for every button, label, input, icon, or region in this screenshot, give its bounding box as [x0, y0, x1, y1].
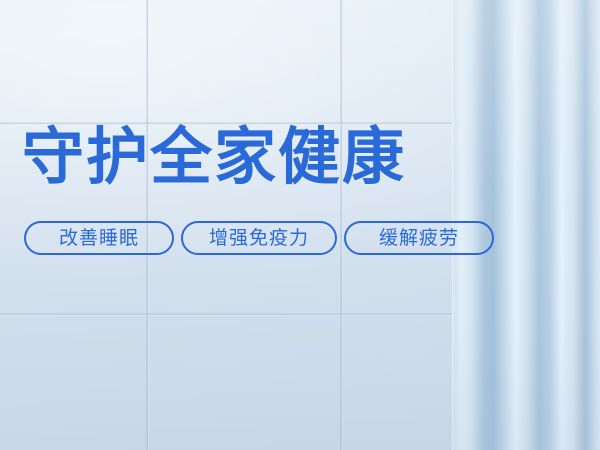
benefit-tag-boost-immunity[interactable]: 增强免疫力: [181, 221, 337, 255]
page-title: 守护全家健康: [22, 122, 406, 192]
benefit-tag-row: 改善睡眠 增强免疫力 缓解疲劳: [24, 221, 494, 255]
benefit-tag-relieve-fatigue[interactable]: 缓解疲劳: [344, 221, 494, 255]
benefit-tag-improve-sleep[interactable]: 改善睡眠: [24, 221, 174, 255]
health-promo-banner: 守护全家健康 改善睡眠 增强免疫力 缓解疲劳: [0, 0, 600, 450]
banner-content: 守护全家健康 改善睡眠 增强免疫力 缓解疲劳: [0, 0, 600, 450]
